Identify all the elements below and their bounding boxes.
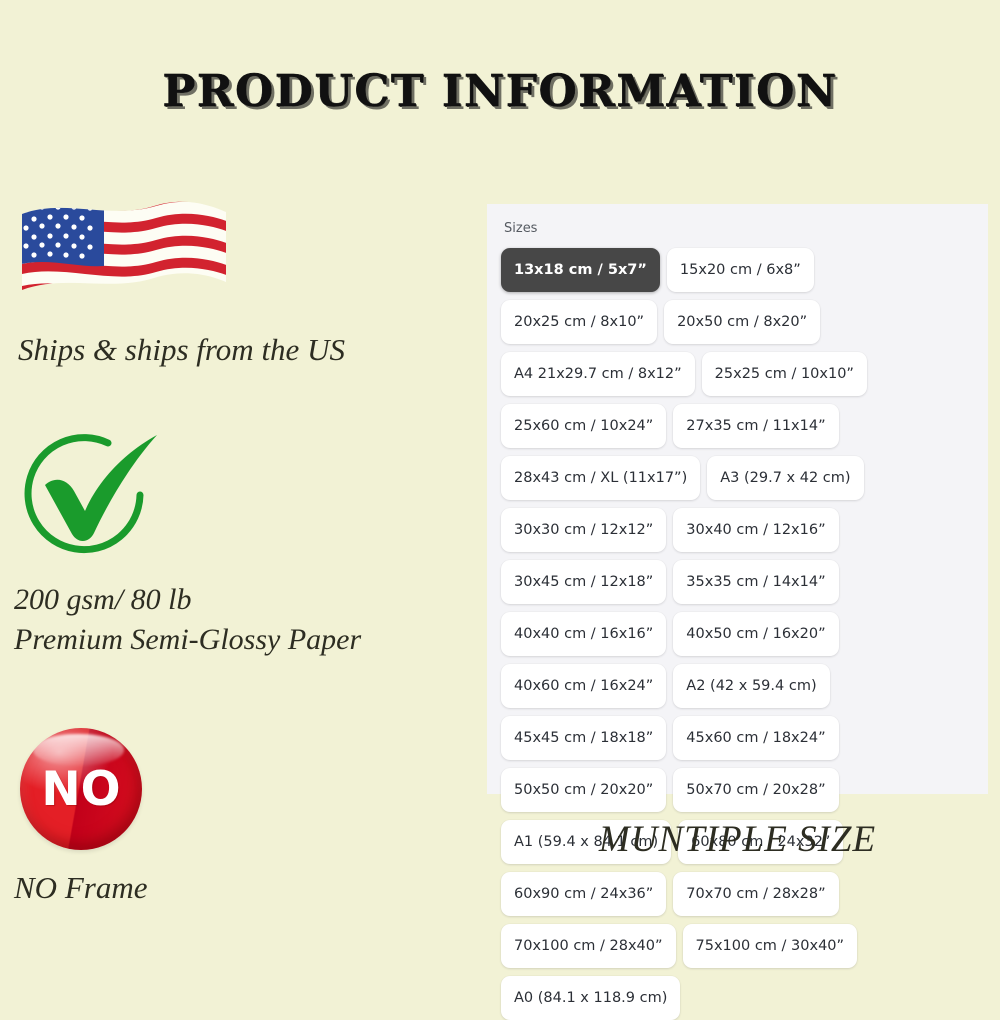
size-option-chip[interactable]: 30x45 cm / 12x18” — [501, 560, 666, 604]
size-option-chip[interactable]: 70x100 cm / 28x40” — [501, 924, 676, 968]
size-option-chip[interactable]: 50x70 cm / 20x28” — [673, 768, 838, 812]
sizes-label: Sizes — [504, 221, 537, 236]
size-option-chip[interactable]: 40x60 cm / 16x24” — [501, 664, 666, 708]
size-option-chip[interactable]: 25x60 cm / 10x24” — [501, 404, 666, 448]
size-option-chip[interactable]: 30x30 cm / 12x12” — [501, 508, 666, 552]
paper-type-line: Premium Semi-Glossy Paper — [14, 620, 361, 660]
size-option-chip[interactable]: 13x18 cm / 5x7” — [501, 248, 660, 292]
size-option-chip[interactable]: 45x60 cm / 18x24” — [673, 716, 838, 760]
size-option-chip[interactable]: 50x50 cm / 20x20” — [501, 768, 666, 812]
size-option-chip[interactable]: 35x35 cm / 14x14” — [673, 560, 838, 604]
paper-spec-caption: 200 gsm/ 80 lb Premium Semi-Glossy Paper — [14, 580, 361, 659]
us-flag-icon — [14, 190, 234, 320]
size-option-chip[interactable]: 20x50 cm / 8x20” — [664, 300, 820, 344]
size-option-chip[interactable]: 40x50 cm / 16x20” — [673, 612, 838, 656]
sizes-panel: Sizes 13x18 cm / 5x7”15x20 cm / 6x8”20x2… — [487, 204, 988, 794]
size-option-chip[interactable]: A3 (29.7 x 42 cm) — [707, 456, 863, 500]
size-option-chip[interactable]: 27x35 cm / 11x14” — [673, 404, 838, 448]
ships-from-us-caption: Ships & ships from the US — [18, 332, 345, 368]
size-option-chip[interactable]: A4 21x29.7 cm / 8x12” — [501, 352, 695, 396]
size-option-chip[interactable]: 70x70 cm / 28x28” — [673, 872, 838, 916]
green-checkmark-icon — [12, 423, 177, 563]
size-option-chip[interactable]: 40x40 cm / 16x16” — [501, 612, 666, 656]
size-options-list: 13x18 cm / 5x7”15x20 cm / 6x8”20x25 cm /… — [501, 248, 975, 1020]
multiple-size-caption: MUNTIPLE SIZE — [487, 818, 988, 861]
size-option-chip[interactable]: 60x90 cm / 24x36” — [501, 872, 666, 916]
features-column: Ships & ships from the US 200 gsm/ 80 lb… — [0, 180, 480, 940]
size-option-chip[interactable]: 45x45 cm / 18x18” — [501, 716, 666, 760]
page-title: PRODUCT INFORMATION — [0, 66, 1000, 117]
no-badge-icon: NO — [20, 728, 142, 850]
size-option-chip[interactable]: 15x20 cm / 6x8” — [667, 248, 814, 292]
size-option-chip[interactable]: 25x25 cm / 10x10” — [702, 352, 867, 396]
size-option-chip[interactable]: 28x43 cm / XL (11x17”) — [501, 456, 700, 500]
size-option-chip[interactable]: 75x100 cm / 30x40” — [683, 924, 858, 968]
paper-weight-line: 200 gsm/ 80 lb — [14, 580, 361, 620]
no-frame-caption: NO Frame — [14, 870, 147, 906]
size-option-chip[interactable]: 20x25 cm / 8x10” — [501, 300, 657, 344]
no-badge-label: NO — [41, 766, 120, 813]
size-option-chip[interactable]: A2 (42 x 59.4 cm) — [673, 664, 829, 708]
size-option-chip[interactable]: A0 (84.1 x 118.9 cm) — [501, 976, 680, 1020]
size-option-chip[interactable]: 30x40 cm / 12x16” — [673, 508, 838, 552]
